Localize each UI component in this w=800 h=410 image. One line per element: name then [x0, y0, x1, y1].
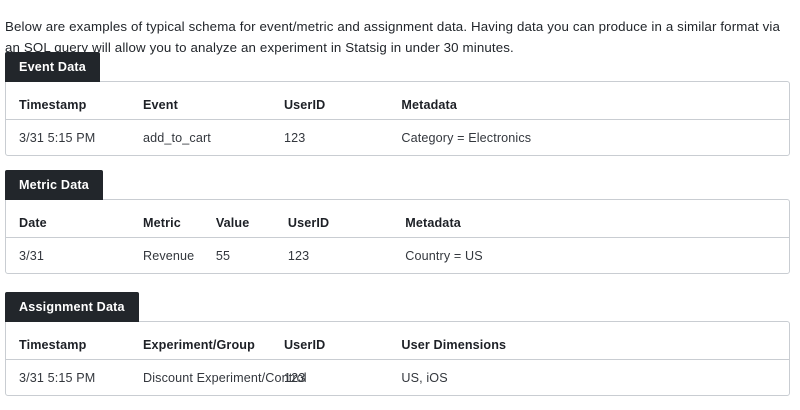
cell-metric: Revenue	[143, 238, 216, 264]
column-header-user-dimensions: User Dimensions	[401, 322, 789, 360]
metric-data-table: Date Metric Value UserID Metadata 3/31 R…	[6, 200, 789, 263]
assignment-data-section: Assignment Data Timestamp Experiment/Gro…	[5, 292, 790, 396]
cell-metadata: Category = Electronics	[401, 120, 789, 146]
metric-data-section: Metric Data Date Metric Value UserID Met…	[5, 170, 790, 274]
table-header-row: Timestamp Event UserID Metadata	[6, 82, 789, 120]
tab-metric-data[interactable]: Metric Data	[5, 170, 103, 200]
cell-timestamp: 3/31 5:15 PM	[6, 120, 143, 146]
cell-userid: 123	[284, 360, 401, 386]
column-header-userid: UserID	[284, 322, 401, 360]
event-data-table-box: Timestamp Event UserID Metadata 3/31 5:1…	[5, 81, 790, 156]
event-data-table: Timestamp Event UserID Metadata 3/31 5:1…	[6, 82, 789, 145]
cell-timestamp: 3/31 5:15 PM	[6, 360, 143, 386]
cell-date: 3/31	[6, 238, 143, 264]
column-header-metric: Metric	[143, 200, 216, 238]
event-data-section: Event Data Timestamp Event UserID Metada…	[5, 52, 790, 156]
assignment-data-table-box: Timestamp Experiment/Group UserID User D…	[5, 321, 790, 396]
cell-metadata: Country = US	[405, 238, 789, 264]
table-row: 3/31 5:15 PM Discount Experiment/Control…	[6, 360, 789, 386]
cell-userid: 123	[284, 120, 401, 146]
column-header-userid: UserID	[288, 200, 405, 238]
cell-event: add_to_cart	[143, 120, 284, 146]
cell-userid: 123	[288, 238, 405, 264]
cell-experiment-group: Discount Experiment/Control	[143, 360, 284, 386]
table-header-row: Timestamp Experiment/Group UserID User D…	[6, 322, 789, 360]
column-header-event: Event	[143, 82, 284, 120]
table-header-row: Date Metric Value UserID Metadata	[6, 200, 789, 238]
table-row: 3/31 Revenue 55 123 Country = US	[6, 238, 789, 264]
cell-user-dimensions: US, iOS	[401, 360, 789, 386]
table-row: 3/31 5:15 PM add_to_cart 123 Category = …	[6, 120, 789, 146]
column-header-experiment-group: Experiment/Group	[143, 322, 284, 360]
cell-value: 55	[216, 238, 288, 264]
column-header-value: Value	[216, 200, 288, 238]
assignment-data-table: Timestamp Experiment/Group UserID User D…	[6, 322, 789, 385]
tab-event-data[interactable]: Event Data	[5, 52, 100, 82]
column-header-date: Date	[6, 200, 143, 238]
tab-assignment-data[interactable]: Assignment Data	[5, 292, 139, 322]
column-header-metadata: Metadata	[405, 200, 789, 238]
column-header-metadata: Metadata	[401, 82, 789, 120]
metric-data-table-box: Date Metric Value UserID Metadata 3/31 R…	[5, 199, 790, 274]
column-header-userid: UserID	[284, 82, 401, 120]
column-header-timestamp: Timestamp	[6, 82, 143, 120]
column-header-timestamp: Timestamp	[6, 322, 143, 360]
